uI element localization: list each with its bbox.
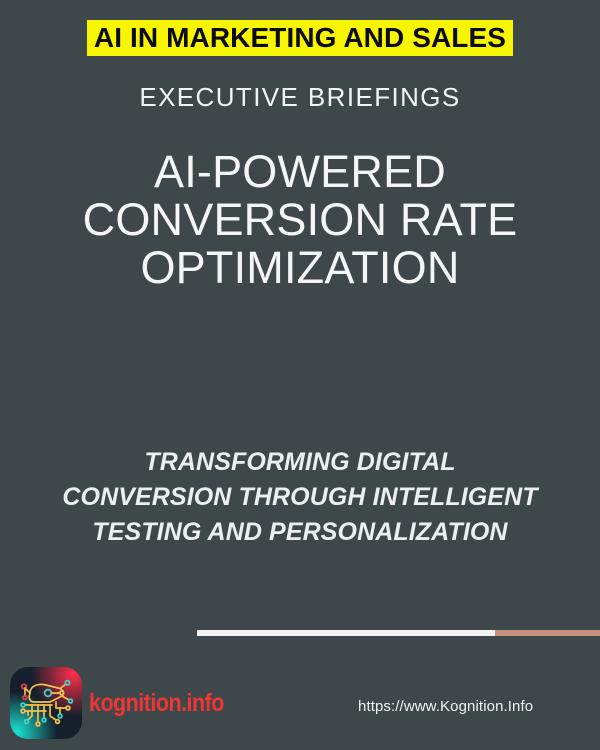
page-subtitle: TRANSFORMING DIGITAL CONVERSION THROUGH … — [16, 445, 584, 550]
title-slide: AI IN MARKETING AND SALES EXECUTIVE BRIE… — [0, 0, 600, 750]
subtitle-line-3: TESTING AND PERSONALIZATION — [16, 515, 584, 550]
title-line-1: AI-POWERED — [30, 148, 570, 196]
page-title: AI-POWERED CONVERSION RATE OPTIMIZATION — [30, 148, 570, 292]
slide-footer: kognition.info https://www.Kognition.Inf… — [0, 662, 600, 750]
series-badge: AI IN MARKETING AND SALES — [87, 20, 513, 56]
kicker-label: EXECUTIVE BRIEFINGS — [0, 82, 600, 113]
brand-name: kognition.info — [89, 691, 224, 716]
series-badge-container: AI IN MARKETING AND SALES — [0, 20, 600, 56]
brand-lockup: kognition.info — [10, 667, 246, 739]
circuit-brain-icon — [10, 667, 82, 739]
site-url[interactable]: https://www.Kognition.Info — [358, 698, 533, 715]
divider — [197, 630, 600, 636]
title-line-2: CONVERSION RATE — [30, 196, 570, 244]
divider-accent-segment — [495, 630, 600, 636]
title-line-3: OPTIMIZATION — [30, 244, 570, 292]
subtitle-line-1: TRANSFORMING DIGITAL — [16, 445, 584, 480]
divider-primary-segment — [197, 630, 495, 636]
subtitle-line-2: CONVERSION THROUGH INTELLIGENT — [16, 480, 584, 515]
